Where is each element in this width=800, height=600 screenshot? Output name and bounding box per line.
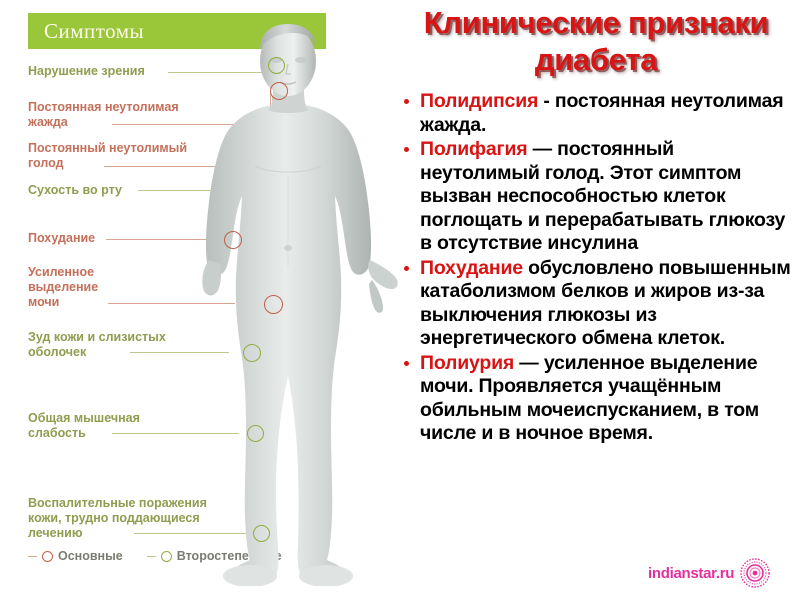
- symptom-label-weight-loss: Похудание: [28, 231, 95, 246]
- list-item: Полидипсия - постоянная неутолимая жажда…: [400, 90, 798, 137]
- human-body-figure: [200, 16, 410, 586]
- clinical-signs-list: Полидипсия - постоянная неутолимая жажда…: [400, 90, 798, 447]
- symptom-label-weakness: Общая мышечная слабость: [28, 411, 140, 441]
- watermark: indianstar.ru: [648, 558, 770, 588]
- symptom-label-hunger: Постоянный неутолимый голод: [28, 141, 187, 171]
- term-polydipsia: Полидипсия: [420, 90, 538, 112]
- symptom-label-skin-lesions: Воспалительные поражения кожи, трудно по…: [28, 496, 207, 541]
- page-title: Клинические признаки диабета: [392, 4, 800, 78]
- legend-dash-primary: [28, 556, 37, 557]
- diabetes-symptoms-poster: Симптомы Нарушение зрения Постоянная неу…: [0, 0, 800, 600]
- bullet-dot-icon: [404, 266, 409, 271]
- symptom-label-urination: Усиленное выделение мочи: [28, 265, 98, 310]
- bullet-dot-icon: [404, 99, 409, 104]
- list-item: Похудание обусловлено повышенным катабол…: [400, 257, 798, 351]
- clinical-signs-panel: Клинические признаки диабета Полидипсия …: [392, 0, 800, 600]
- symptom-label-itching: Зуд кожи и слизистых оболочек: [28, 330, 166, 360]
- term-polyuria: Полиурия: [420, 352, 514, 374]
- watermark-text: indianstar.ru: [648, 565, 734, 582]
- symptoms-header-title: Симптомы: [44, 19, 144, 44]
- mandala-logo-icon: [740, 558, 770, 588]
- list-item: Полиурия — усиленное выделение мочи. Про…: [400, 352, 798, 446]
- legend-circle-secondary: [161, 551, 172, 562]
- marker-skin-lesions: [253, 525, 270, 542]
- bullet-dot-icon: [404, 147, 409, 152]
- legend-item-primary: Основные: [28, 549, 123, 563]
- marker-urination: [264, 295, 283, 314]
- marker-itching: [243, 344, 261, 362]
- marker-vision: [268, 57, 285, 74]
- legend-label-primary: Основные: [58, 549, 123, 563]
- symptom-label-thirst: Постоянная неутолимая жажда: [28, 100, 179, 130]
- symptom-label-dry-mouth: Сухость во рту: [28, 183, 122, 198]
- term-weight-loss: Похудание: [420, 257, 523, 279]
- list-item: Полифагия — постоянный неутолимый голод.…: [400, 138, 798, 256]
- legend-circle-primary: [42, 551, 53, 562]
- term-polyphagia: Полифагия: [420, 138, 527, 160]
- symptom-label-vision: Нарушение зрения: [28, 64, 145, 79]
- marker-thirst-mouth: [270, 82, 288, 100]
- bullet-dot-icon: [404, 361, 409, 366]
- legend-dash-secondary: [147, 556, 156, 557]
- marker-weakness: [247, 425, 264, 442]
- marker-weight-loss: [224, 231, 242, 249]
